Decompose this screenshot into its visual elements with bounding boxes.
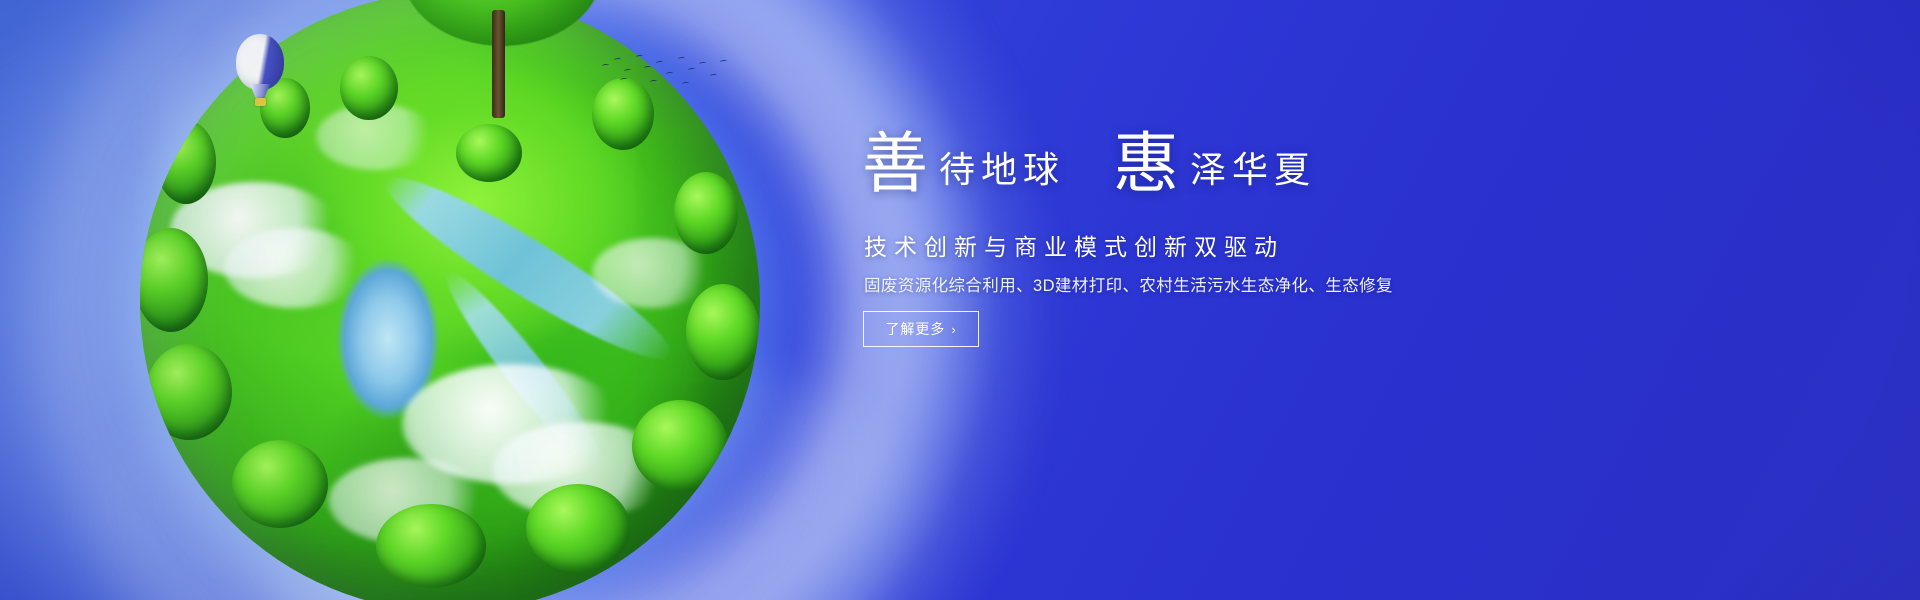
page-description: 固废资源化综合利用、3D建材打印、农村生活污水生态净化、生态修复: [864, 272, 1393, 296]
tree-canopy: [686, 284, 760, 380]
cloud-puff: [224, 228, 364, 308]
headline-char-primary-2: 惠: [1113, 132, 1180, 198]
headline-text-2: 泽华夏: [1190, 152, 1316, 188]
headline-char-primary-1: 善: [862, 132, 929, 198]
balloon-taper: [250, 84, 270, 98]
learn-more-button[interactable]: 了解更多 ›: [863, 311, 979, 347]
tree-canopy: [340, 56, 398, 120]
tree-canopy: [526, 484, 630, 572]
tree-canopy: [140, 228, 208, 332]
learn-more-label: 了解更多: [885, 319, 945, 339]
page-subtitle: 技术创新与商业模式创新双驱动: [864, 228, 1284, 262]
tree-canopy: [232, 440, 328, 528]
tree-canopy: [674, 172, 738, 254]
page-title: 善 待地球 惠 泽华夏: [862, 132, 1316, 198]
chevron-right-icon: ›: [951, 323, 956, 336]
hero-banner: 善 待地球 惠 泽华夏 技术创新与商业模式创新双驱动 固废资源化综合利用、3D建…: [0, 0, 1920, 600]
hero-content: 善 待地球 惠 泽华夏 技术创新与商业模式创新双驱动 固废资源化综合利用、3D建…: [862, 0, 1622, 600]
balloon-envelope: [236, 34, 284, 90]
tree-canopy: [146, 344, 232, 440]
flock-of-birds-icon: [600, 50, 740, 92]
tree-canopy: [156, 120, 216, 204]
tree-canopy: [456, 124, 522, 182]
headline-text-1: 待地球: [939, 152, 1065, 188]
tree-canopy: [632, 400, 728, 492]
large-tree-trunk: [492, 10, 505, 118]
hot-air-balloon-icon: [236, 34, 284, 108]
balloon-basket: [255, 98, 266, 106]
tree-canopy: [376, 504, 486, 588]
